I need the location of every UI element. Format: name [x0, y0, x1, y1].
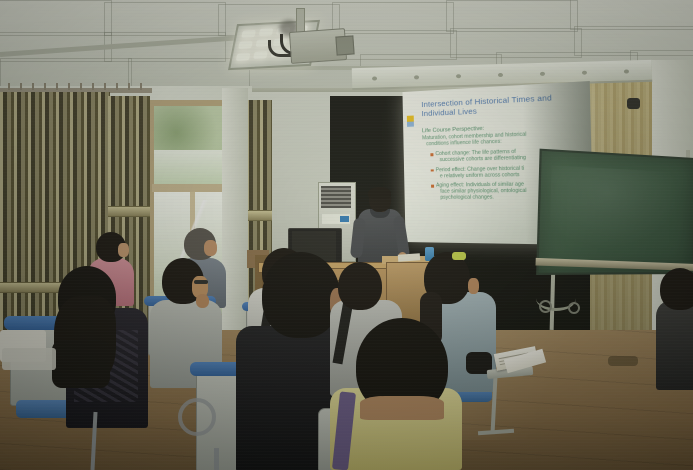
audience-face: [204, 240, 217, 256]
audience-hand: [196, 294, 209, 308]
window-foliage: [154, 106, 228, 150]
hair-clip-icon: [452, 252, 466, 260]
bullet-dot-icon: [431, 169, 434, 172]
audience-neck: [360, 396, 444, 420]
speaker-icon: [627, 98, 640, 109]
bullet-dot-icon: [430, 154, 433, 157]
chalkboard-wheel: [568, 302, 580, 314]
air-conditioner-grill: [321, 186, 351, 208]
chalkboard-wheel: [539, 300, 552, 313]
stacked-papers-2: [2, 348, 56, 370]
shoulder-bag[interactable]: [52, 340, 110, 388]
glasses-icon: [194, 280, 208, 284]
audience-torso: [656, 300, 693, 390]
window-mullion: [152, 184, 232, 192]
audience-head: [660, 268, 693, 310]
audience-face: [118, 243, 129, 257]
audience-head: [338, 262, 382, 310]
chalkboard-residue: [549, 166, 686, 252]
bullet-dot-icon: [431, 185, 434, 188]
presenter-fringe: [368, 187, 391, 199]
slide-bullet-3-text: Aging effect: Individuals of similar age…: [436, 182, 527, 201]
slide-bullet-2-text: Period effect: Change over historical ti…: [436, 165, 525, 179]
chair-wheel: [178, 398, 216, 436]
floor-object: [608, 356, 638, 366]
slide-bullet-1-text: Cohort change: The life patterns of succ…: [435, 149, 526, 164]
classroom-photo: Intersection of Historical Times and Ind…: [0, 0, 693, 470]
audience-face: [468, 278, 479, 294]
chalkboard: [536, 149, 693, 275]
chair-leg: [214, 448, 219, 470]
projector-lens: [335, 35, 354, 55]
audience-head: [262, 252, 340, 338]
air-conditioner-badge: [340, 216, 349, 222]
